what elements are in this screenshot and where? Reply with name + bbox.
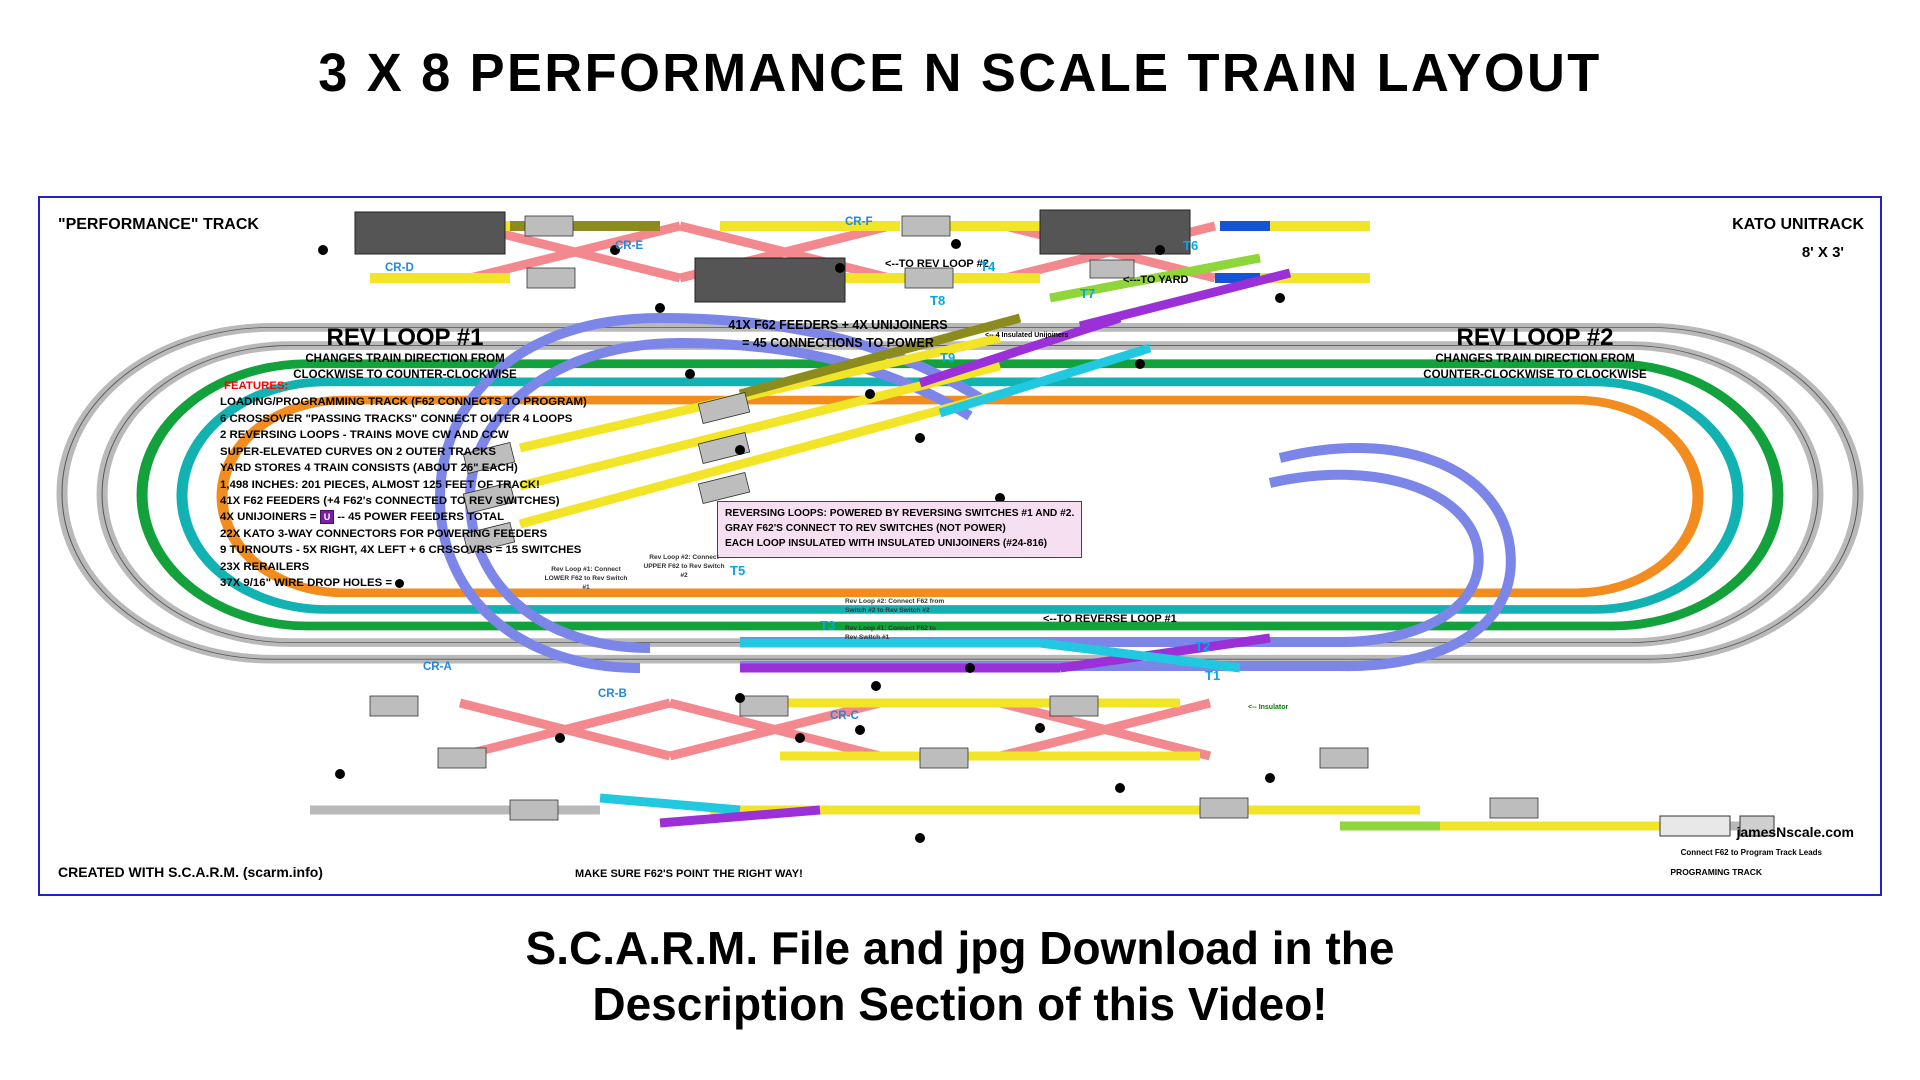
- center-feeder-note: 41X F62 FEEDERS + 4X UNIJOINERS = 45 CON…: [688, 316, 988, 352]
- unijoiner-callout: <-- 4 Insulated Unijoiners: [985, 332, 1068, 339]
- feature-item: 41X F62 FEEDERS (+4 F62's CONNECTED TO R…: [220, 493, 640, 509]
- feature-unijoiner-text-a: 4X UNIJOINERS =: [220, 511, 320, 523]
- website-label: jamesNscale.com: [1736, 824, 1854, 840]
- wire-drop-dot-icon: [395, 579, 404, 588]
- turnout-label-t9: T9: [940, 350, 955, 365]
- note-to-rev-loop-2: <--TO REV LOOP #2: [885, 258, 989, 270]
- note-to-yard: <---TO YARD: [1123, 274, 1189, 286]
- rev-note-line2: GRAY F62'S CONNECT TO REV SWITCHES (NOT …: [725, 522, 1074, 537]
- rev-switch-note-loop1: Rev Loop #1: Connect LOWER F62 to Rev Sw…: [543, 566, 629, 593]
- turnout-label-t6: T6: [1183, 238, 1198, 253]
- feature-item: 1,498 INCHES: 201 PIECES, ALMOST 125 FEE…: [220, 477, 640, 493]
- rev-switch-note-loop2: Rev Loop #2: Connect UPPER F62 to Rev Sw…: [640, 554, 728, 581]
- f62-warning-label: MAKE SURE F62'S POINT THE RIGHT WAY!: [575, 868, 803, 880]
- turnout-label-t8: T8: [930, 293, 945, 308]
- crossover-label-cr-d: CR-D: [385, 262, 414, 274]
- turnout-label-t7: T7: [1080, 286, 1095, 301]
- layout-poster: 3 X 8 PERFORMANCE N SCALE TRAIN LAYOUT .…: [0, 0, 1920, 1080]
- feature-item: 2 REVERSING LOOPS - TRAINS MOVE CW AND C…: [220, 427, 640, 443]
- created-with-label: CREATED WITH S.C.A.R.M. (scarm.info): [58, 864, 323, 880]
- feature-wiredrop-text: 37X 9/16" WIRE DROP HOLES =: [220, 577, 395, 589]
- turnout-label-t5: T5: [730, 563, 745, 578]
- feature-unijoiner-text-b: -- 45 POWER FEEDERS TOTAL: [334, 511, 504, 523]
- crossover-label-cr-a: CR-A: [423, 661, 452, 673]
- crossover-label-cr-c: CR-C: [830, 710, 859, 722]
- turnout-label-t4: T4: [980, 259, 995, 274]
- feature-item: SUPER-ELEVATED CURVES ON 2 OUTER TRACKS: [220, 444, 640, 460]
- bottom-tracks: [310, 638, 1760, 826]
- poster-title: 3 X 8 PERFORMANCE N SCALE TRAIN LAYOUT: [0, 46, 1920, 100]
- feature-item: LOADING/PROGRAMMING TRACK (F62 CONNECTS …: [220, 394, 640, 410]
- turnout-label-t2: T2: [1195, 639, 1210, 654]
- features-heading: FEATURES:: [220, 378, 640, 394]
- program-track-note: Connect F62 to Program Track Leads: [1681, 848, 1822, 858]
- rev-loop-1-title: REV LOOP #1: [245, 324, 565, 352]
- programming-track-label: PROGRAMING TRACK: [1670, 867, 1762, 877]
- rev-loop-2-sub1: CHANGES TRAIN DIRECTION FROM: [1375, 352, 1695, 368]
- rev-loop-2-sub2: COUNTER-CLOCKWISE TO CLOCKWISE: [1375, 368, 1695, 384]
- feature-item: 6 CROSSOVER "PASSING TRACKS" CONNECT OUT…: [220, 411, 640, 427]
- feature-item: 9 TURNOUTS - 5X RIGHT, 4X LEFT + 6 CRSSO…: [220, 542, 640, 558]
- feature-item-unijoiners: 4X UNIJOINERS = U -- 45 POWER FEEDERS TO…: [220, 509, 640, 525]
- unijoiner-chip-icon: U: [320, 510, 335, 524]
- footer-line-1: S.C.A.R.M. File and jpg Download in the: [0, 920, 1920, 976]
- crossover-label-cr-b: CR-B: [598, 688, 627, 700]
- performance-track-label: "PERFORMANCE" TRACK: [58, 216, 259, 234]
- rev-loop-2-title: REV LOOP #2: [1375, 324, 1695, 352]
- footer-line-2: Description Section of this Video!: [0, 976, 1920, 1032]
- rev-loop-1-sub1: CHANGES TRAIN DIRECTION FROM: [245, 352, 565, 368]
- layout-size-label: 8' X 3': [1802, 244, 1844, 261]
- rev-loop-1-block: REV LOOP #1 CHANGES TRAIN DIRECTION FROM…: [245, 324, 565, 383]
- rev-switch-note-loop2b: Rev Loop #2: Connect F62 from Switch #2 …: [845, 598, 945, 616]
- insulator-callout: <-- Insulator: [1248, 704, 1288, 711]
- center-note-line1: 41X F62 FEEDERS + 4X UNIJOINERS: [688, 316, 988, 334]
- rev-loop-2-block: REV LOOP #2 CHANGES TRAIN DIRECTION FROM…: [1375, 324, 1695, 383]
- features-list: FEATURES: LOADING/PROGRAMMING TRACK (F62…: [220, 378, 640, 591]
- poster-footer: S.C.A.R.M. File and jpg Download in the …: [0, 920, 1920, 1032]
- crossover-label-cr-e: CR-E: [615, 240, 643, 252]
- note-to-reverse-loop-1: <--TO REVERSE LOOP #1: [1043, 613, 1177, 625]
- crossover-label-cr-f: CR-F: [845, 216, 872, 228]
- feature-item: YARD STORES 4 TRAIN CONSISTS (ABOUT 26" …: [220, 460, 640, 476]
- rev-note-line1: REVERSING LOOPS: POWERED BY REVERSING SW…: [725, 507, 1074, 522]
- feature-item: 22X KATO 3-WAY CONNECTORS FOR POWERING F…: [220, 526, 640, 542]
- turnout-label-t3: T3: [820, 618, 835, 633]
- rev-switch-note-loop1b: Rev Loop #1: Connect F62 to Rev Switch #…: [845, 625, 945, 643]
- page-title: 3 X 8 PERFORMANCE N SCALE TRAIN LAYOUT: [29, 46, 1891, 100]
- turnout-label-t1: T1: [1205, 668, 1220, 683]
- track-plan-frame: .tk { fill:none; stroke-linecap:butt; } …: [38, 196, 1882, 896]
- reversing-loops-note: REVERSING LOOPS: POWERED BY REVERSING SW…: [717, 501, 1082, 558]
- kato-unitrack-label: KATO UNITRACK: [1732, 216, 1864, 234]
- rev-note-line3: EACH LOOP INSULATED WITH INSULATED UNIJO…: [725, 537, 1074, 552]
